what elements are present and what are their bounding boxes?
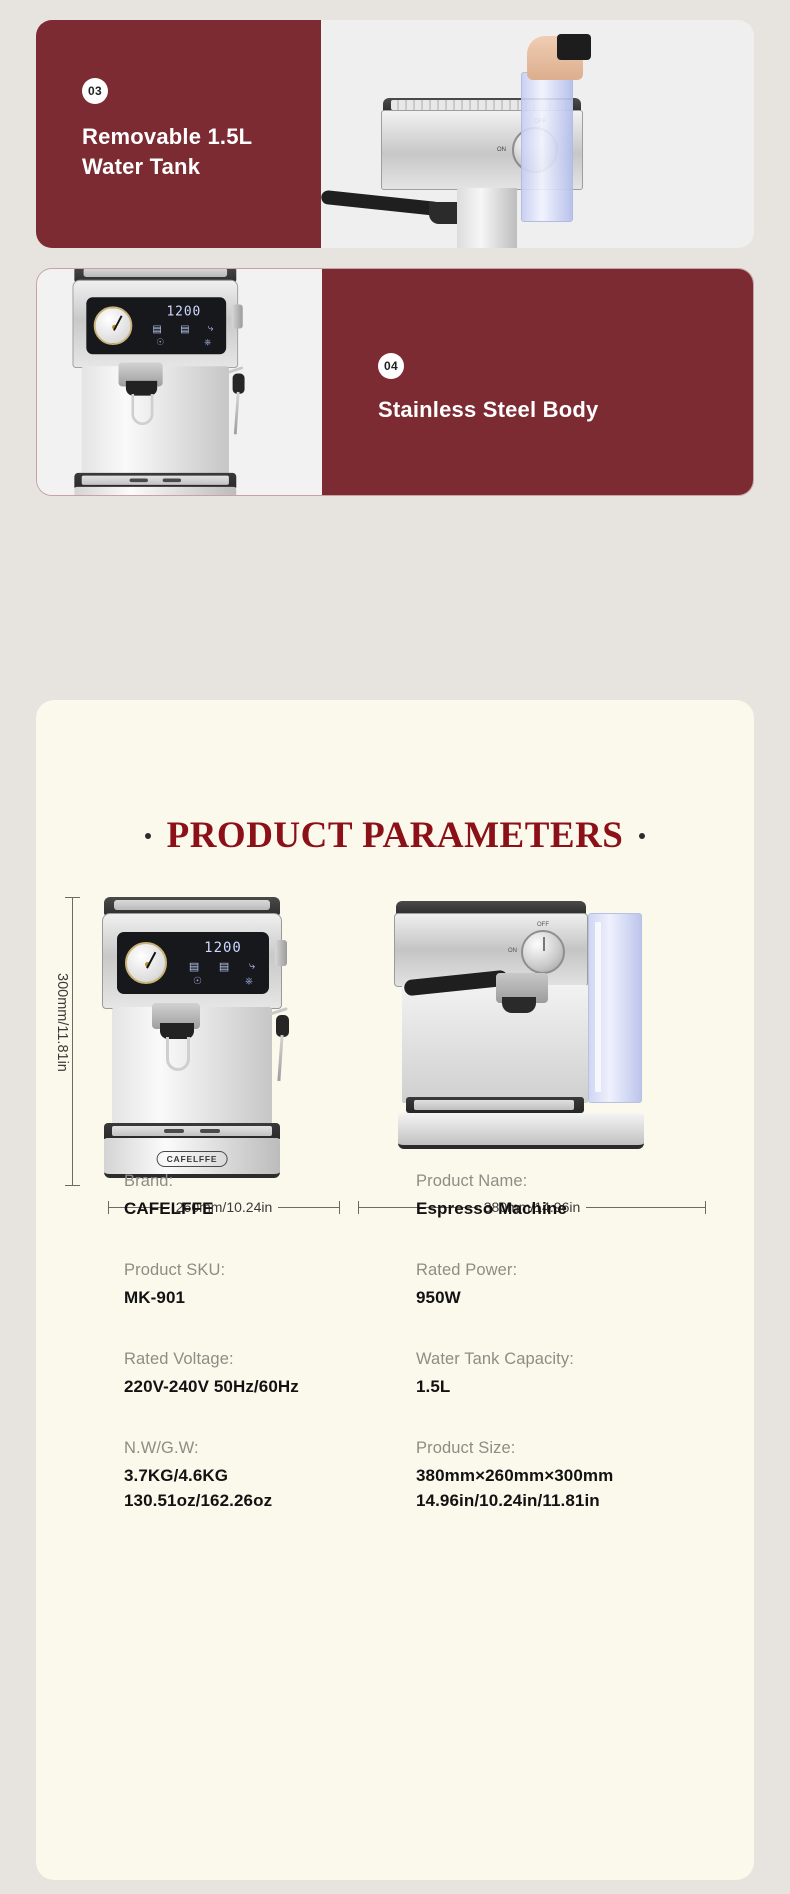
- feature-03-image: OFF ON: [321, 20, 754, 248]
- power-icon: ⎈: [245, 976, 253, 987]
- portafilter-basket-side: [502, 997, 536, 1013]
- lcd-readout: 1200: [183, 940, 263, 956]
- side-knob: [275, 940, 287, 966]
- feature-03-text-half: 03 Removable 1.5L Water Tank: [36, 20, 321, 248]
- lcd-panel: 1200 ▤ ▤ ⤷ ☉ ⎈: [86, 297, 226, 354]
- single-cup-icon: ▤: [189, 960, 199, 973]
- side-knob: [232, 305, 243, 329]
- double-cup-icon: ▤: [219, 960, 229, 973]
- height-dimension-cap-top: [65, 897, 80, 898]
- steam-wand-tube: [277, 1035, 283, 1081]
- feature-04-title: Stainless Steel Body: [378, 395, 598, 425]
- spec-label: Product Name:: [416, 1172, 684, 1191]
- machine-base: CAFELFFE: [74, 487, 236, 495]
- steam-wand: [220, 366, 248, 440]
- machine-body-lower: [457, 188, 517, 248]
- spec-value: CAFELFFE: [124, 1197, 392, 1221]
- height-dimension-label: 300mm/11.81in: [52, 969, 72, 1076]
- spec-item-water-tank-capacity: Water Tank Capacity: 1.5L: [416, 1350, 684, 1399]
- machine-front-view: 1200 ▤ ▤ ⤷ ☉ ⎈: [96, 897, 306, 1185]
- removable-water-tank: [521, 72, 573, 222]
- feature-panel-04: 1200 ▤ ▤ ⤷ ☉ ⎈: [36, 268, 754, 496]
- height-dimension-line: [72, 897, 73, 1185]
- spec-value: 3.7KG/4.6KG130.51oz/162.26oz: [124, 1464, 392, 1512]
- drip-tray-grid: [82, 476, 229, 485]
- spec-label: Water Tank Capacity:: [416, 1350, 684, 1369]
- heading-dot-left: [145, 833, 151, 839]
- spec-value: MK-901: [124, 1286, 392, 1310]
- pressure-gauge-icon: [94, 306, 133, 345]
- spec-value: 1.5L: [416, 1375, 684, 1399]
- feature-04-copy: 04 Stainless Steel Body: [378, 353, 598, 425]
- product-parameters-card: PRODUCT PARAMETERS 300mm/11.81in: [36, 700, 754, 1880]
- dimension-tick-right: [705, 1201, 706, 1214]
- gauge-hub: [112, 325, 117, 330]
- single-cup-icon: ▤: [152, 323, 162, 335]
- feature-03-number-badge: 03: [82, 78, 108, 104]
- spec-label: Rated Power:: [416, 1261, 684, 1280]
- knob-off-label: OFF: [537, 922, 549, 928]
- steam-icon: ⤷: [249, 960, 255, 973]
- lcd-cup-icons: ▤ ▤ ⤷: [179, 960, 265, 973]
- spec-item-net-gross-weight: N.W/G.W: 3.7KG/4.6KG130.51oz/162.26oz: [124, 1439, 392, 1512]
- water-tank-side: [588, 913, 642, 1103]
- spec-value: Espresso Machine: [416, 1197, 684, 1221]
- machine-head: 1200 ▤ ▤ ⤷ ☉ ⎈: [102, 913, 282, 1009]
- spec-label: N.W/G.W:: [124, 1439, 392, 1458]
- spec-label: Brand:: [124, 1172, 392, 1191]
- drip-tray-grid-side: [414, 1100, 574, 1110]
- steam-icon: ⤷: [208, 323, 214, 335]
- lcd-buttons: ☉ ⎈: [156, 338, 211, 348]
- machine-base-side: [398, 1113, 644, 1149]
- power-icon: ⎈: [204, 338, 211, 348]
- spec-label: Product Size:: [416, 1439, 684, 1458]
- feature-04-text-half: 04 Stainless Steel Body: [322, 269, 753, 495]
- feature-03-copy: 03 Removable 1.5L Water Tank: [82, 78, 252, 181]
- steam-wand-grip: [233, 374, 245, 394]
- feature-03-title: Removable 1.5L Water Tank: [82, 122, 252, 181]
- heading-dot-right: [639, 833, 645, 839]
- spec-item-rated-power: Rated Power: 950W: [416, 1261, 684, 1310]
- feature-04-image: 1200 ▤ ▤ ⤷ ☉ ⎈: [37, 269, 322, 495]
- feature-03-title-line1: Removable 1.5L: [82, 124, 252, 149]
- spec-item-rated-voltage: Rated Voltage: 220V-240V 50Hz/60Hz: [124, 1350, 392, 1399]
- control-knob: [521, 930, 565, 974]
- double-cup-icon: ▤: [180, 323, 190, 335]
- machine-illustrations: 1200 ▤ ▤ ⤷ ☉ ⎈: [86, 891, 706, 1191]
- steam-wand-tube: [234, 392, 240, 434]
- pressure-gauge-icon: [125, 942, 167, 984]
- knob-on-label: ON: [508, 948, 517, 954]
- lcd-readout: 1200: [147, 305, 221, 320]
- spec-item-product-name: Product Name: Espresso Machine: [416, 1172, 684, 1221]
- height-dimension-cap-bottom: [65, 1185, 80, 1186]
- parameters-heading-text: PRODUCT PARAMETERS: [167, 814, 624, 857]
- lcd-panel: 1200 ▤ ▤ ⤷ ☉ ⎈: [117, 932, 269, 994]
- spec-value: 220V-240V 50Hz/60Hz: [124, 1375, 392, 1399]
- specifications-grid: Brand: CAFELFFE Product Name: Espresso M…: [124, 1172, 684, 1513]
- drip-tray-grid: [112, 1126, 272, 1136]
- spec-item-brand: Brand: CAFELFFE: [124, 1172, 392, 1221]
- lcd-cup-icons: ▤ ▤ ⤷: [143, 323, 222, 335]
- steam-wand: [262, 1007, 292, 1087]
- portafilter-cup-holder: [166, 1037, 190, 1071]
- feature-03-title-line2: Water Tank: [82, 154, 200, 179]
- machine-side-view: OFF ON: [376, 901, 676, 1183]
- knob-on-label: ON: [497, 147, 506, 153]
- descale-icon: ☉: [156, 338, 164, 348]
- gauge-hub: [145, 962, 150, 967]
- feature-panel-03: 03 Removable 1.5L Water Tank OFF ON: [36, 20, 754, 248]
- spec-item-product-sku: Product SKU: MK-901: [124, 1261, 392, 1310]
- product-detail-page: 03 Removable 1.5L Water Tank OFF ON: [0, 0, 790, 1894]
- steam-wand-grip: [276, 1015, 289, 1037]
- machine-body-side: [402, 985, 588, 1103]
- lcd-buttons: ☉ ⎈: [193, 976, 253, 987]
- espresso-machine-front-view: 1200 ▤ ▤ ⤷ ☉ ⎈: [67, 269, 260, 495]
- spec-label: Rated Voltage:: [124, 1350, 392, 1369]
- spec-label: Product SKU:: [124, 1261, 392, 1280]
- descale-icon: ☉: [193, 976, 202, 987]
- spec-value: 950W: [416, 1286, 684, 1310]
- spec-value: 380mm×260mm×300mm14.96in/10.24in/11.81in: [416, 1464, 684, 1512]
- parameters-heading: PRODUCT PARAMETERS: [36, 814, 754, 857]
- tank-lid: [557, 34, 591, 60]
- spec-item-product-size: Product Size: 380mm×260mm×300mm14.96in/1…: [416, 1439, 684, 1512]
- portafilter-cup-holder: [131, 394, 153, 425]
- brand-badge: CAFELFFE: [157, 1151, 228, 1167]
- machine-head: 1200 ▤ ▤ ⤷ ☉ ⎈: [73, 280, 239, 368]
- feature-04-number-badge: 04: [378, 353, 404, 379]
